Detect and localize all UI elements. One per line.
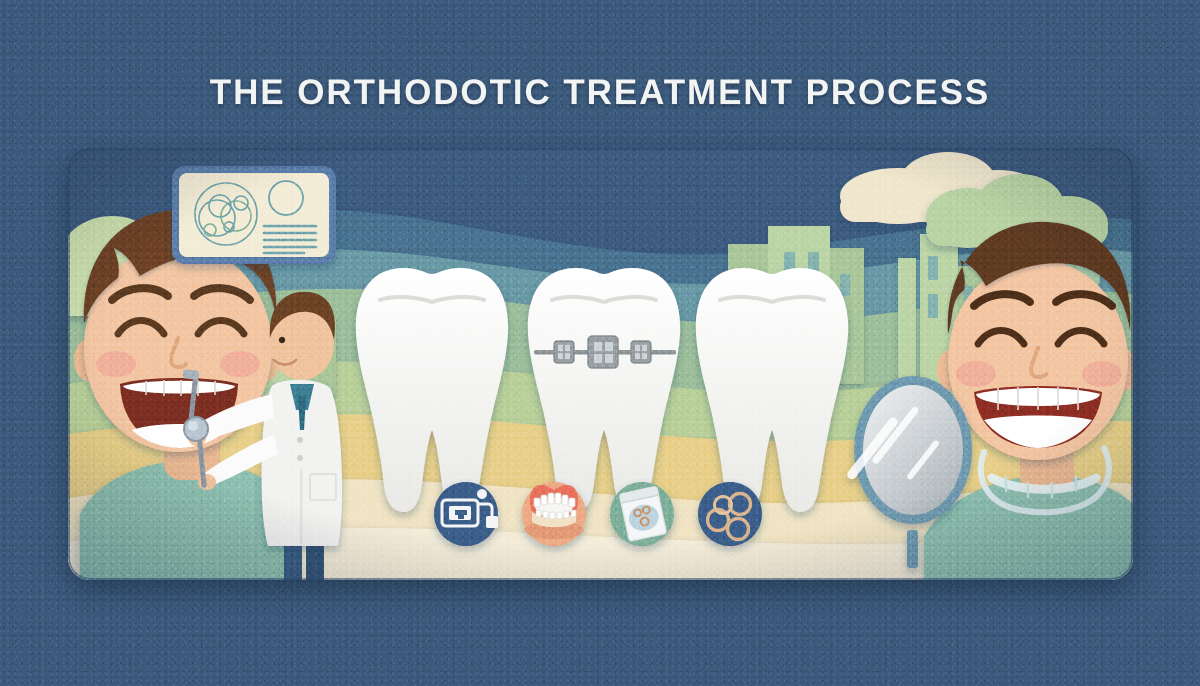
rubber-bands-icon[interactable] [698, 482, 762, 546]
illustration-card [68, 148, 1133, 580]
mirror-glass [863, 385, 963, 515]
xray-machine-icon[interactable] [434, 482, 498, 546]
bracket-center [588, 336, 618, 368]
hand-lower [198, 474, 216, 490]
cheek-right [1082, 361, 1122, 387]
page-title: THE ORTHODOTIC TREATMENT PROCESS [0, 73, 1200, 113]
xray-chart-panel[interactable] [172, 166, 336, 264]
bracket-right [631, 341, 651, 363]
dental-model-icon[interactable] [522, 482, 586, 546]
cheek-left [956, 361, 996, 387]
cheek-left [96, 351, 136, 377]
mirror-handle [907, 530, 918, 568]
dentist-eye [279, 337, 285, 343]
illustration-root: THE ORTHODOTIC TREATMENT PROCESS [0, 0, 1200, 686]
bracket-left [554, 341, 574, 363]
panel-plate [179, 173, 329, 257]
cheek-right [220, 351, 260, 377]
elastics-bag-icon[interactable] [610, 482, 674, 546]
